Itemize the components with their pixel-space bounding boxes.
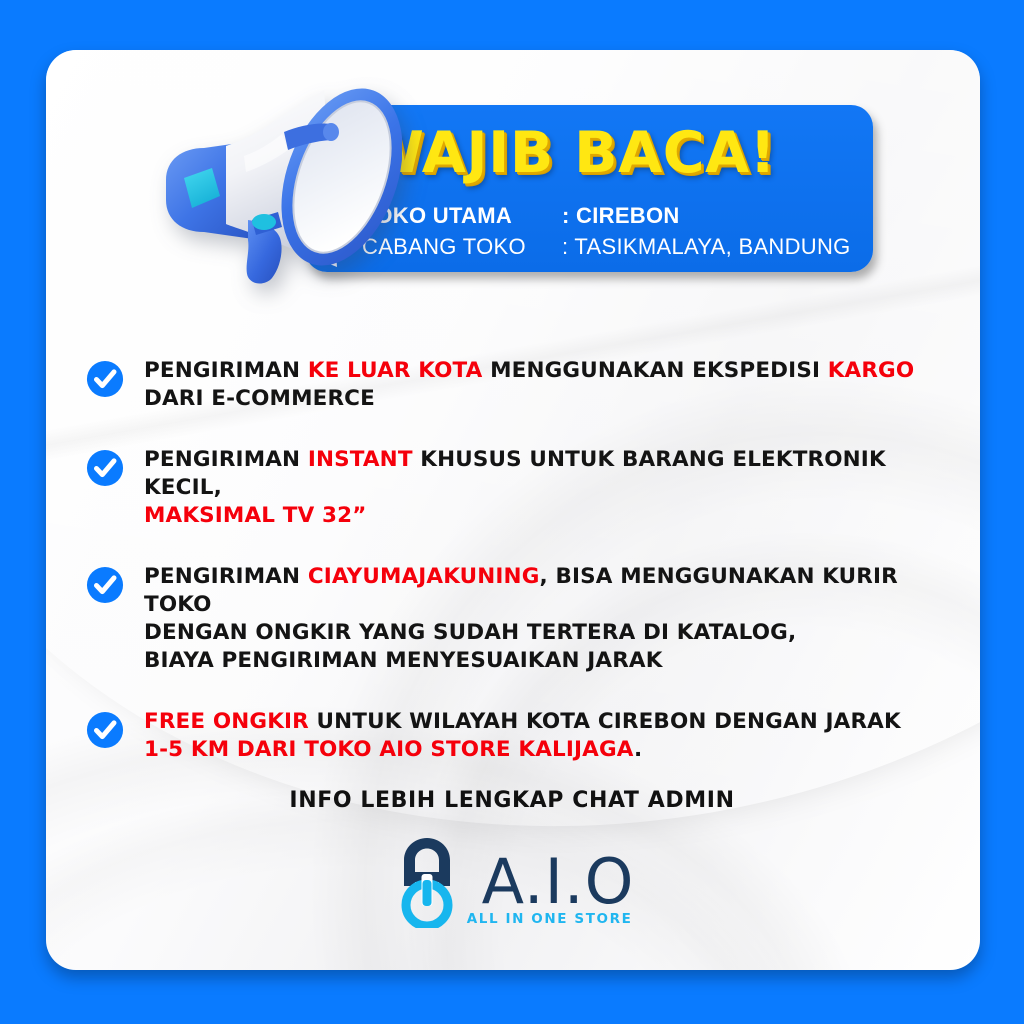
footer-cta-text: INFO LEBIH LENGKAP CHAT ADMIN <box>0 788 1024 813</box>
list-item: PENGIRIMAN CIAYUMAJAKUNING, BISA MENGGUN… <box>86 563 916 675</box>
check-circle-icon <box>86 360 124 398</box>
poster-canvas: WAJIB BACA! TOKO UTAMA : CIREBON CABANG … <box>0 0 1024 1024</box>
store-info-row-main: TOKO UTAMA : CIREBON <box>362 203 851 234</box>
store-info-row-branch: CABANG TOKO : TASIKMALAYA, BANDUNG <box>362 234 851 265</box>
page-title: WAJIB BACA! <box>361 120 776 186</box>
list-item: PENGIRIMAN INSTANT KHUSUS UNTUK BARANG E… <box>86 446 916 530</box>
brand-wordmark: A.I.O ALL IN ONE STORE <box>482 851 635 913</box>
aio-power-logo-icon <box>390 836 474 928</box>
list-item-text: PENGIRIMAN CIAYUMAJAKUNING, BISA MENGGUN… <box>144 563 916 675</box>
list-item-text: FREE ONGKIR UNTUK WILAYAH KOTA CIREBON D… <box>144 708 901 764</box>
brand-logo: A.I.O ALL IN ONE STORE <box>0 836 1024 928</box>
list-item: PENGIRIMAN KE LUAR KOTA MENGGUNAKAN EKSP… <box>86 357 916 413</box>
check-circle-icon <box>86 449 124 487</box>
store-info-table: TOKO UTAMA : CIREBON CABANG TOKO : TASIK… <box>362 203 851 265</box>
store-info-value: : CIREBON <box>562 203 680 229</box>
list-item-text: PENGIRIMAN INSTANT KHUSUS UNTUK BARANG E… <box>144 446 916 530</box>
megaphone-body-group <box>166 72 402 284</box>
list-item: FREE ONGKIR UNTUK WILAYAH KOTA CIREBON D… <box>86 708 916 764</box>
check-circle-icon <box>86 711 124 749</box>
brand-name: A.I.O <box>482 851 635 913</box>
check-circle-icon <box>86 566 124 604</box>
store-info-value: : TASIKMALAYA, BANDUNG <box>562 234 851 260</box>
bullet-list: PENGIRIMAN KE LUAR KOTA MENGGUNAKAN EKSP… <box>86 357 916 797</box>
megaphone-icon <box>152 72 402 302</box>
list-item-text: PENGIRIMAN KE LUAR KOTA MENGGUNAKAN EKSP… <box>144 357 914 413</box>
brand-tagline: ALL IN ONE STORE <box>467 911 633 927</box>
